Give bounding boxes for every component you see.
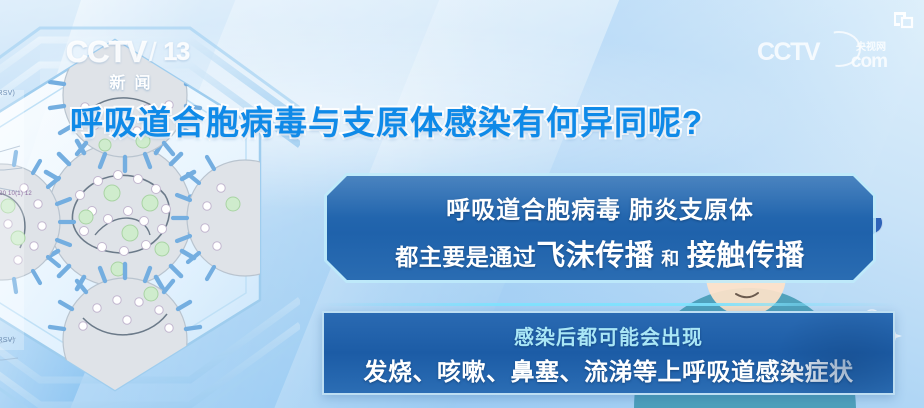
watermark-arc <box>817 31 861 67</box>
info-box-1-emphasis-1: 飞沫传播 <box>536 232 654 274</box>
picture-in-picture-icon[interactable] <box>892 10 914 30</box>
watermark-cctv-text: CCTV <box>757 40 887 65</box>
broadcast-frame: (RSV) (RSV) 2020 10(1) 12 <box>0 0 924 408</box>
watermark-cn-text: 央视网 <box>856 38 886 53</box>
info-box-2-line-1: 感染后都可能会出现 <box>324 321 893 350</box>
watermark-com-text: com <box>851 51 887 73</box>
info-box-1-line-2: 都主要是通过 飞沫传播 和 接触传播 <box>327 232 873 274</box>
decor-label-citation: 2020 10(1) 12 <box>0 191 32 197</box>
cctv-com-watermark: CCTV 央视网 com <box>757 40 887 80</box>
decor-label-rsv-top: (RSV) <box>0 90 15 97</box>
info-box-1-line-1: 呼吸道合胞病毒 肺炎支原体 <box>327 190 873 225</box>
decor-label-rsv-bottom: (RSV) <box>0 337 15 344</box>
info-box-1-emphasis-2: 接触传播 <box>687 232 805 274</box>
info-box-2-line-2: 发烧、咳嗽、鼻塞、流涕等上呼吸道感染症状 <box>324 352 893 387</box>
page-title: 呼吸道合胞病毒与支原体感染有何异同呢? <box>70 96 703 144</box>
virus-illustration-panel: (RSV) (RSV) 2020 10(1) 12 <box>0 0 300 408</box>
info-box-2: 感染后都可能会出现 发烧、咳嗽、鼻塞、流涕等上呼吸道感染症状 <box>322 311 895 395</box>
info-box-2-highlight-line <box>322 303 895 306</box>
info-box-1: 呼吸道合胞病毒 肺炎支原体 都主要是通过 飞沫传播 和 接触传播 <box>327 176 873 280</box>
info-box-1-prefix: 都主要是通过 <box>395 238 536 272</box>
hexagon-chevron-graphic <box>0 0 300 408</box>
info-box-1-conjunction: 和 <box>654 245 687 271</box>
